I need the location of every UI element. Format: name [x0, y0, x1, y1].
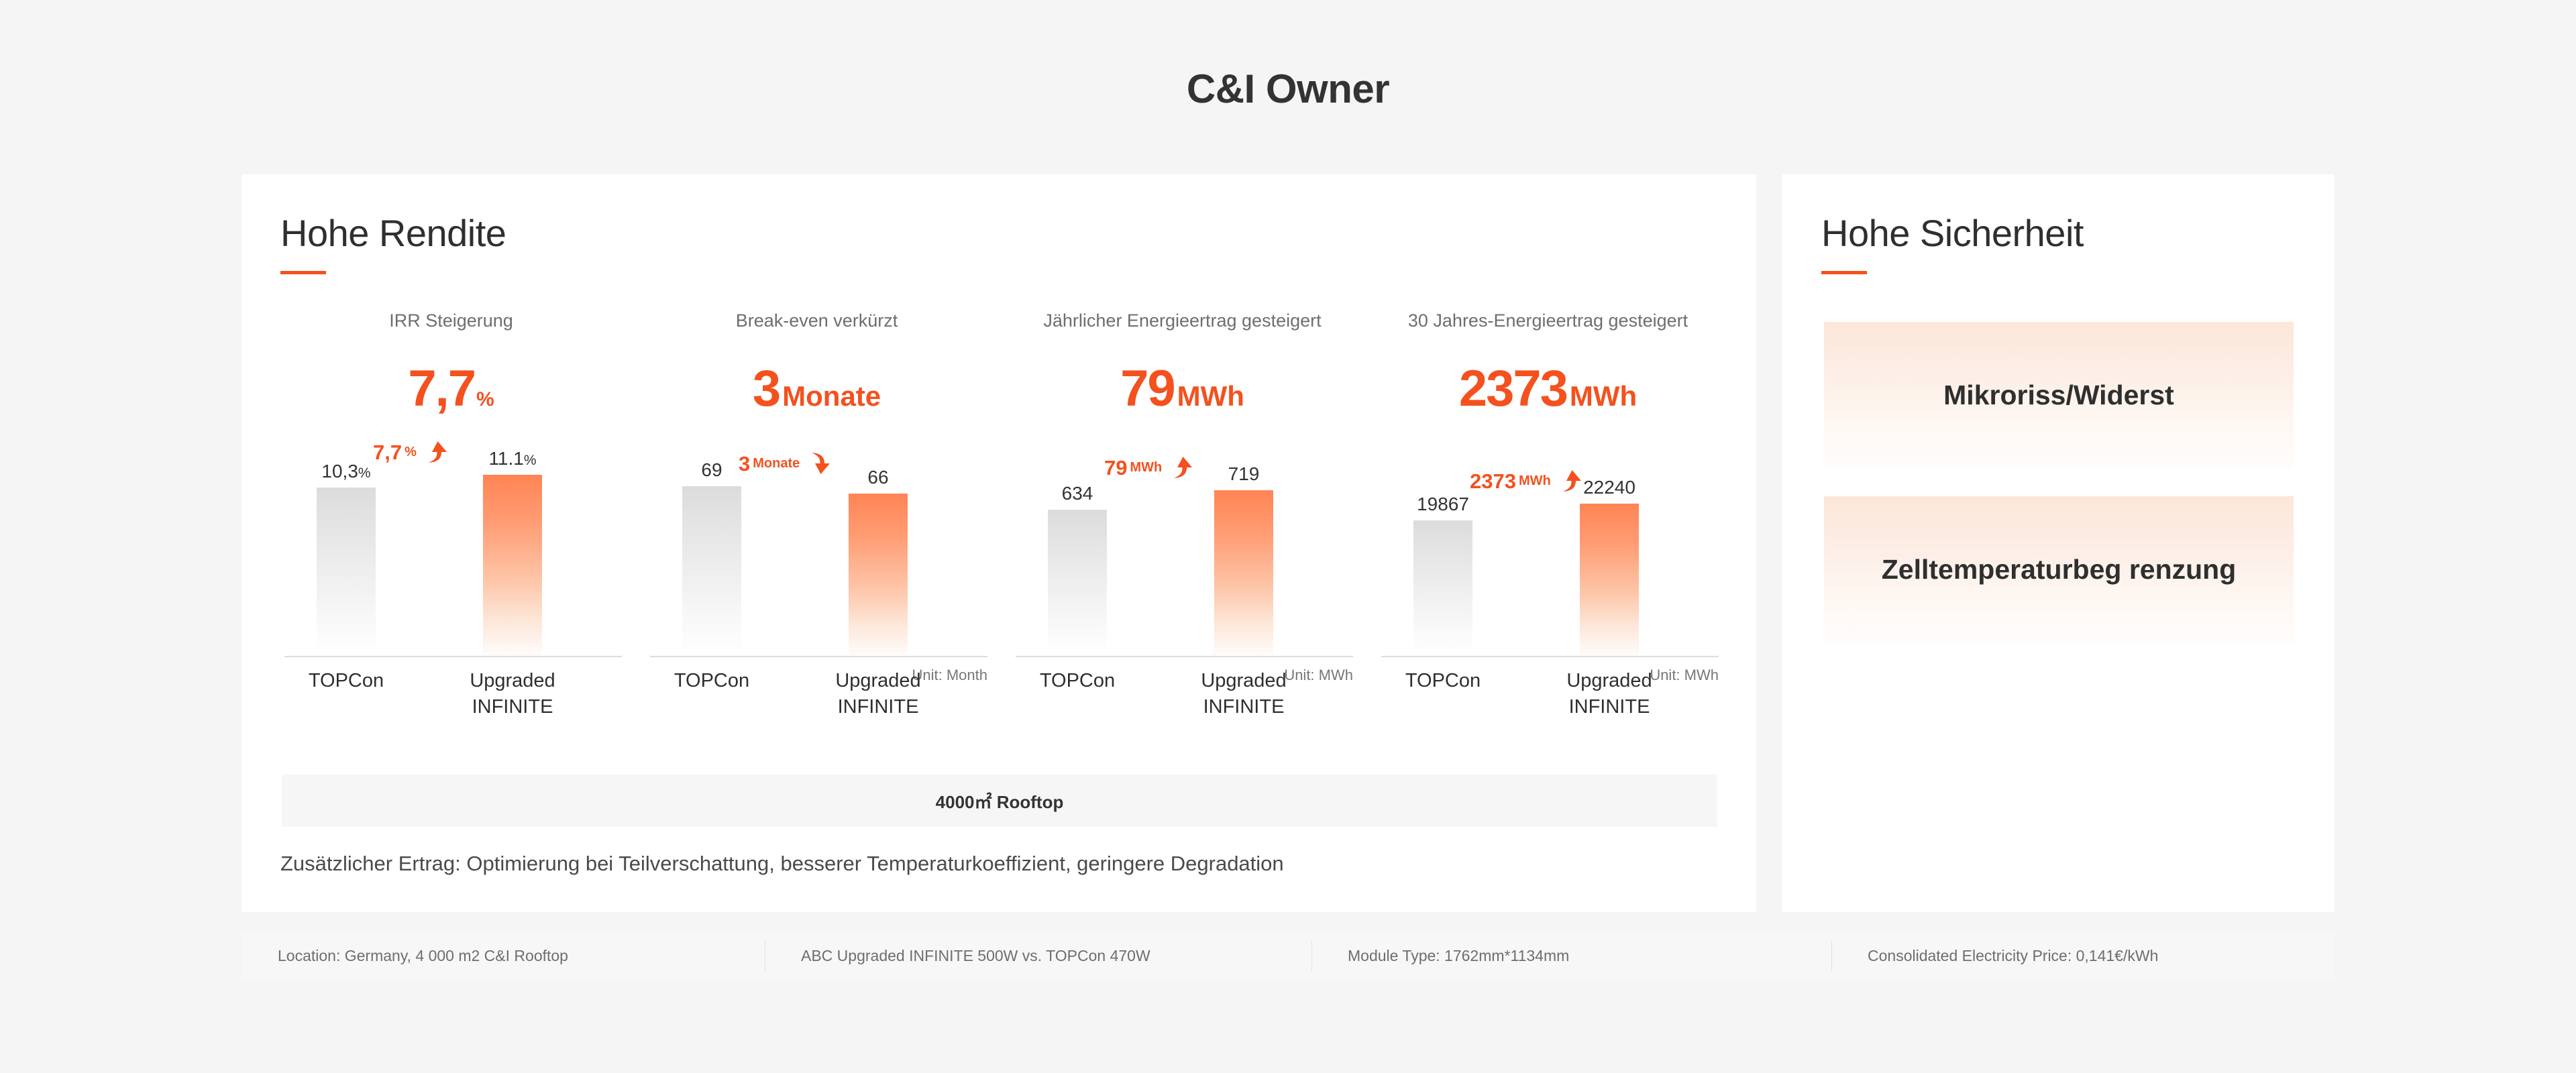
chart-headline: 2373MWh — [1365, 363, 1731, 414]
safety-card-header: Hohe Sicherheit — [1821, 213, 2084, 274]
arrow-up-icon — [1165, 453, 1194, 482]
bar-value-upgraded-infinite: 66 — [821, 467, 935, 488]
bar-upgraded-infinite — [849, 494, 908, 656]
returns-card: Hohe Rendite IRR Steigerung7,7%10,3%11.1… — [241, 174, 1756, 912]
safety-card-title: Hohe Sicherheit — [1821, 213, 2084, 253]
safety-tile-label: Mikroriss/Widerst — [1943, 379, 2174, 411]
x-axis-labels: TOPConUpgradedINFINITE — [268, 668, 634, 735]
x-label-upgraded-infinite: UpgradedINFINITE — [1170, 668, 1318, 720]
chart-title: Jährlicher Energieertrag gesteigert — [1000, 308, 1365, 333]
chart-title: Break-even verkürzt — [634, 308, 1000, 333]
arrow-down-icon — [802, 449, 832, 478]
bar-upgraded-infinite — [1580, 504, 1639, 656]
safety-tile-2: Zelltemperaturbeg renzung — [1824, 496, 2294, 642]
x-label-topcon: TOPCon — [638, 668, 786, 694]
delta-unit: MWh — [1519, 474, 1551, 488]
bar-value-upgraded-infinite: 719 — [1187, 463, 1301, 485]
x-axis-labels: TOPConUpgradedINFINITE — [634, 668, 1000, 735]
delta-value: 2373 — [1470, 471, 1516, 492]
delta-value: 7,7 — [373, 442, 402, 463]
delta-callout: 3Monate — [739, 449, 832, 478]
delta-value: 79 — [1104, 457, 1127, 478]
footer-item-3: Module Type: 1762mm*1134mm — [1311, 932, 1831, 979]
bar-topcon — [1413, 520, 1472, 656]
plot-area: 10,3%11.1%7,7% — [268, 436, 634, 657]
page-title: C&I Owner — [0, 66, 2576, 112]
headline-value: 3 — [753, 360, 780, 417]
axis-line — [650, 656, 987, 657]
delta-unit: MWh — [1130, 461, 1162, 474]
headline-unit: MWh — [1570, 380, 1637, 412]
plot-area: 19867222402373MWhUnit: MWh — [1365, 436, 1731, 657]
chart-headline: 79MWh — [1000, 363, 1365, 414]
bar-topcon — [1048, 510, 1107, 656]
headline-unit: MWh — [1177, 380, 1244, 412]
x-label-topcon: TOPCon — [1369, 668, 1517, 694]
axis-line — [284, 656, 622, 657]
footer-metadata-bar: Location: Germany, 4 000 m2 C&I RooftopA… — [241, 932, 2334, 979]
headline-value: 79 — [1120, 360, 1175, 417]
chart-headline: 7,7% — [268, 363, 634, 414]
charts-row: IRR Steigerung7,7%10,3%11.1%7,7%TOPConUp… — [268, 308, 1731, 738]
delta-callout: 7,7% — [373, 437, 449, 467]
x-label-upgraded-infinite: UpgradedINFINITE — [804, 668, 952, 720]
bar-value-topcon: 19867 — [1386, 494, 1500, 515]
rooftop-band: 4000㎡ Rooftop — [282, 775, 1717, 827]
plot-area: 69663MonateUnit: Month — [634, 436, 1000, 657]
x-label-topcon: TOPCon — [272, 668, 420, 694]
headline-value: 2373 — [1459, 360, 1567, 417]
delta-callout: 79MWh — [1104, 453, 1194, 482]
chart-2: Break-even verkürzt3Monate69663MonateUni… — [634, 308, 1000, 738]
bar-topcon — [682, 486, 741, 656]
x-label-upgraded-infinite: UpgradedINFINITE — [1536, 668, 1683, 720]
chart-title: 30 Jahres-Energieertrag gesteigert — [1365, 308, 1731, 333]
chart-4: 30 Jahres-Energieertrag gesteigert2373MW… — [1365, 308, 1731, 738]
x-label-topcon: TOPCon — [1004, 668, 1151, 694]
footer-item-2: ABC Upgraded INFINITE 500W vs. TOPCon 47… — [765, 932, 1311, 979]
bar-value-topcon: 634 — [1020, 483, 1134, 504]
title-underline-rule — [1821, 271, 1867, 274]
footer-item-4: Consolidated Electricity Price: 0,141€/k… — [1831, 932, 2334, 979]
safety-tile-label: Zelltemperaturbeg renzung — [1882, 553, 2237, 585]
slide-root: C&I Owner Hohe Rendite IRR Steigerung7,7… — [0, 0, 2576, 1073]
x-label-upgraded-infinite: UpgradedINFINITE — [439, 668, 586, 720]
safety-tile-1: Mikroriss/Widerst — [1824, 322, 2294, 468]
bar-value-upgraded-infinite: 11.1% — [455, 448, 570, 469]
safety-tiles: Mikroriss/WiderstZelltemperaturbeg renzu… — [1824, 322, 2294, 671]
x-axis-labels: TOPConUpgradedINFINITE — [1000, 668, 1365, 735]
bar-topcon — [317, 488, 376, 656]
additional-yield-note: Zusätzlicher Ertrag: Optimierung bei Tei… — [280, 852, 1284, 876]
delta-unit: Monate — [753, 457, 800, 470]
axis-line — [1016, 656, 1353, 657]
bar-upgraded-infinite — [483, 475, 542, 656]
delta-value: 3 — [739, 453, 750, 474]
x-axis-labels: TOPConUpgradedINFINITE — [1365, 668, 1731, 735]
returns-card-header: Hohe Rendite — [280, 213, 506, 274]
arrow-up-icon — [1554, 466, 1583, 496]
chart-headline: 3Monate — [634, 363, 1000, 414]
delta-callout: 2373MWh — [1470, 466, 1583, 496]
headline-unit: Monate — [782, 380, 881, 412]
safety-card: Hohe Sicherheit Mikroriss/WiderstZelltem… — [1782, 174, 2334, 912]
chart-1: IRR Steigerung7,7%10,3%11.1%7,7%TOPConUp… — [268, 308, 634, 738]
returns-card-title: Hohe Rendite — [280, 213, 506, 253]
arrow-up-icon — [419, 437, 449, 467]
footer-item-1: Location: Germany, 4 000 m2 C&I Rooftop — [241, 932, 765, 979]
delta-unit: % — [405, 445, 417, 459]
headline-unit: % — [476, 388, 494, 410]
headline-value: 7,7 — [408, 360, 475, 417]
axis-line — [1381, 656, 1719, 657]
title-underline-rule — [280, 271, 326, 274]
bar-upgraded-infinite — [1214, 490, 1273, 656]
chart-3: Jährlicher Energieertrag gesteigert79MWh… — [1000, 308, 1365, 738]
chart-title: IRR Steigerung — [268, 308, 634, 333]
plot-area: 63471979MWhUnit: MWh — [1000, 436, 1365, 657]
